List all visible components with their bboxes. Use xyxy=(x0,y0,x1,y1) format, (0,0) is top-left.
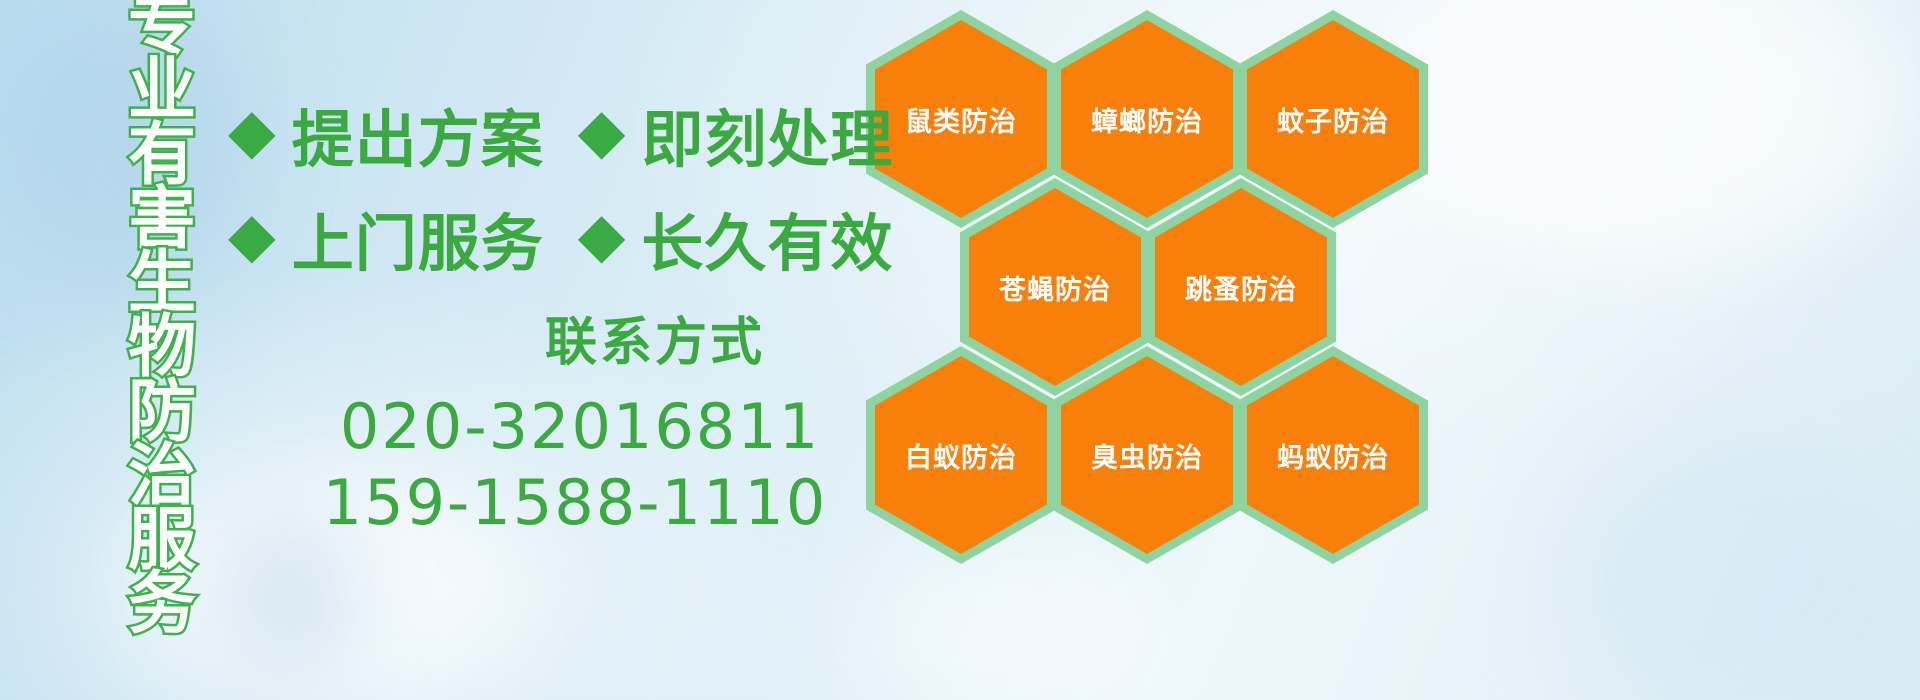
vertical-headline-char: 业 xyxy=(128,58,196,123)
vertical-headline-char: 防 xyxy=(128,380,196,445)
vertical-headline-char: 服 xyxy=(128,508,196,573)
feature-row-2: ◆ 上门服务 ◆ 长久有效 xyxy=(228,186,923,290)
diamond-icon: ◆ xyxy=(578,204,626,266)
service-hex-termite[interactable]: 白蚁防治 xyxy=(866,346,1056,564)
feature-label: 上门服务 xyxy=(292,193,544,283)
feature-label: 即刻处理 xyxy=(641,89,893,179)
background-shadow-bottom-left xyxy=(230,520,350,670)
diamond-icon: ◆ xyxy=(578,100,626,162)
diamond-icon: ◆ xyxy=(228,204,276,266)
vertical-headline-char: 害 xyxy=(128,187,196,252)
service-label: 蚊子防治 xyxy=(1277,100,1389,139)
service-label: 跳蚤防治 xyxy=(1185,268,1297,307)
feature-label: 长久有效 xyxy=(641,193,893,283)
service-label: 蟑螂防治 xyxy=(1091,100,1203,139)
service-label: 白蚁防治 xyxy=(905,436,1017,475)
vertical-headline-char: 生 xyxy=(128,251,196,316)
background-glow-bottom-center xyxy=(860,540,1160,700)
vertical-headline-char: 治 xyxy=(128,444,196,509)
service-label: 苍蝇防治 xyxy=(999,268,1111,307)
vertical-headline: 专 业 有 害 生 物 防 治 服 务 xyxy=(104,0,220,700)
vertical-headline-char: 有 xyxy=(128,123,196,188)
feature-label: 提出方案 xyxy=(292,89,544,179)
feature-row-1: ◆ 提出方案 ◆ 即刻处理 xyxy=(228,82,923,186)
contact-block: 联系方式 020-32016811 159-1588-1110 xyxy=(300,300,860,540)
phone-mobile[interactable]: 159-1588-1110 xyxy=(290,465,860,541)
service-hexagon-cluster: 鼠类防治 蟑螂防治 蚊子防治 苍蝇防治 跳蚤防治 白蚁防治 臭虫 xyxy=(862,0,1462,560)
background-glow-bottom-right xyxy=(1560,430,1920,700)
service-hex-ant[interactable]: 蚂蚁防治 xyxy=(1238,346,1428,564)
background-glow-top-right xyxy=(1400,0,1920,270)
feature-list: ◆ 提出方案 ◆ 即刻处理 ◆ 上门服务 ◆ 长久有效 xyxy=(228,82,923,290)
service-label: 蚂蚁防治 xyxy=(1277,436,1389,475)
diamond-icon: ◆ xyxy=(228,100,276,162)
vertical-headline-char: 务 xyxy=(128,572,196,637)
service-hex-bedbug[interactable]: 臭虫防治 xyxy=(1052,346,1242,564)
contact-label: 联系方式 xyxy=(450,300,860,375)
service-label: 臭虫防治 xyxy=(1091,436,1203,475)
phone-landline[interactable]: 020-32016811 xyxy=(300,389,860,465)
vertical-headline-char: 物 xyxy=(128,315,196,380)
